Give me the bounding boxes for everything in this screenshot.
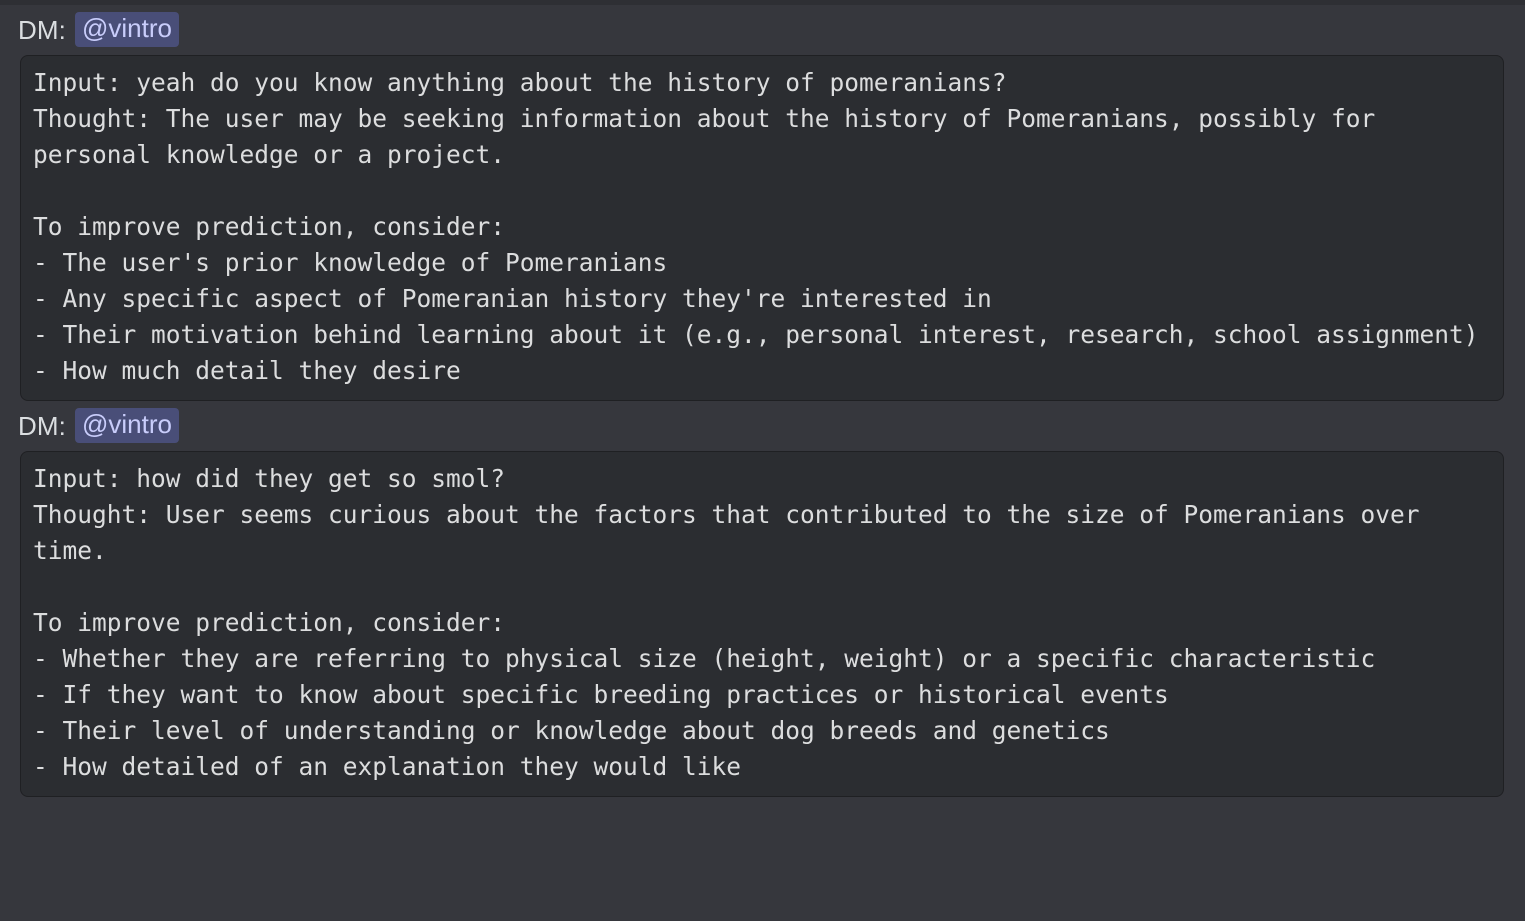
dm-label: DM: <box>18 17 66 43</box>
code-block-content: Input: how did they get so smol? Thought… <box>33 461 1491 785</box>
message-group: DM: @vintro Input: yeah do you know anyt… <box>0 5 1525 401</box>
dm-label: DM: <box>18 413 66 439</box>
chat-transcript-view: DM: @vintro Input: yeah do you know anyt… <box>0 0 1525 921</box>
mention-vintro[interactable]: @vintro <box>75 12 179 47</box>
code-block: Input: yeah do you know anything about t… <box>20 55 1504 401</box>
message-group: DM: @vintro Input: how did they get so s… <box>0 401 1525 797</box>
dm-header: DM: @vintro <box>0 401 1525 449</box>
code-block: Input: how did they get so smol? Thought… <box>20 451 1504 797</box>
mention-vintro[interactable]: @vintro <box>75 408 179 443</box>
message-list: DM: @vintro Input: yeah do you know anyt… <box>0 5 1525 921</box>
code-block-content: Input: yeah do you know anything about t… <box>33 65 1491 389</box>
dm-header: DM: @vintro <box>0 5 1525 53</box>
